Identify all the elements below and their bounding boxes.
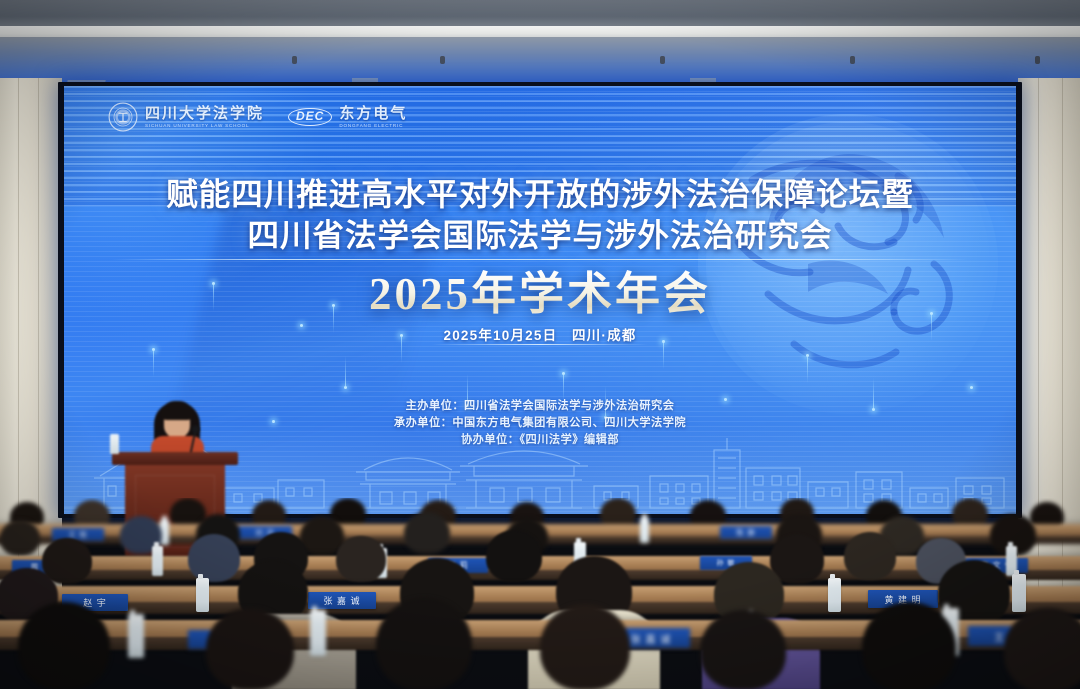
- forum-headline: 赋能四川推进高水平对外开放的涉外法治保障论坛暨 四川省法学会国际法学与涉外法治研…: [64, 174, 1016, 256]
- audience-head: [404, 512, 450, 554]
- logo-dec-en: DONGFANG ELECTRIC: [339, 124, 407, 129]
- water-bottle: [828, 578, 841, 612]
- logo-dec-cn: 东方电气: [339, 106, 407, 121]
- audience-head: [376, 598, 472, 689]
- audience-head: [336, 536, 386, 582]
- water-bottle: [152, 546, 163, 576]
- ceiling-spotlight: [660, 56, 665, 64]
- logo-scu-law-school: 四川大学法学院 SICHUAN UNIVERSITY LAW SCHOOL: [108, 102, 264, 132]
- dec-mark: DEC: [288, 108, 332, 126]
- ceiling-spotlight: [1035, 56, 1040, 64]
- sparkle-dot: [152, 348, 155, 351]
- nameplate: 陈 静: [720, 526, 772, 539]
- headline-line-2: 四川省法学会国际法学与涉外法治研究会: [64, 215, 1016, 256]
- date-location-line: 2025年10月25日 四川·成都: [64, 324, 1016, 344]
- sparkle-dot: [806, 354, 809, 357]
- audience-head: [862, 602, 956, 689]
- ceiling-spotlight: [292, 56, 297, 64]
- ceiling-spotlight: [440, 56, 445, 64]
- sparkle-dot: [562, 372, 565, 375]
- logo-scu-en: SICHUAN UNIVERSITY LAW SCHOOL: [145, 124, 264, 129]
- logo-dongfang-electric: DEC 东方电气 DONGFANG ELECTRIC: [288, 106, 407, 129]
- headline-line-1: 赋能四川推进高水平对外开放的涉外法治保障论坛暨: [64, 174, 1016, 215]
- lectern-top: [112, 452, 238, 465]
- lectern-water-bottle: [110, 434, 119, 454]
- water-bottle: [310, 610, 326, 656]
- title-divider: [112, 259, 968, 260]
- audience-head: [540, 604, 630, 689]
- audience-head: [844, 532, 896, 580]
- ceiling-spotlight: [850, 56, 855, 64]
- conference-photo: 四川大学法学院 SICHUAN UNIVERSITY LAW SCHOOL DE…: [0, 0, 1080, 689]
- presenter-hair-top: [161, 401, 193, 420]
- date-underline: [432, 344, 648, 345]
- logo-scu-cn: 四川大学法学院: [145, 106, 264, 121]
- nameplate: 张 嘉 诚: [308, 592, 376, 609]
- water-bottle: [196, 578, 209, 612]
- audience-head: [700, 610, 786, 689]
- university-seal-icon: [108, 102, 138, 132]
- water-bottle: [1012, 574, 1026, 612]
- annual-meeting-title: 2025年学术年会: [64, 270, 1016, 320]
- sponsor-logo-row: 四川大学法学院 SICHUAN UNIVERSITY LAW SCHOOL DE…: [108, 102, 407, 132]
- audience-head: [486, 530, 542, 582]
- audience-head: [188, 534, 240, 582]
- water-bottle: [128, 614, 144, 658]
- audience-head: [18, 602, 110, 689]
- audience-head: [0, 520, 40, 556]
- audience-head: [1004, 608, 1080, 689]
- audience-head: [206, 608, 294, 689]
- audience-area: 王 晓 刘 洋 陈 静 周 鹏 张 莉 孙 敏 李 文 怡: [0, 498, 1080, 689]
- water-bottle: [640, 518, 649, 543]
